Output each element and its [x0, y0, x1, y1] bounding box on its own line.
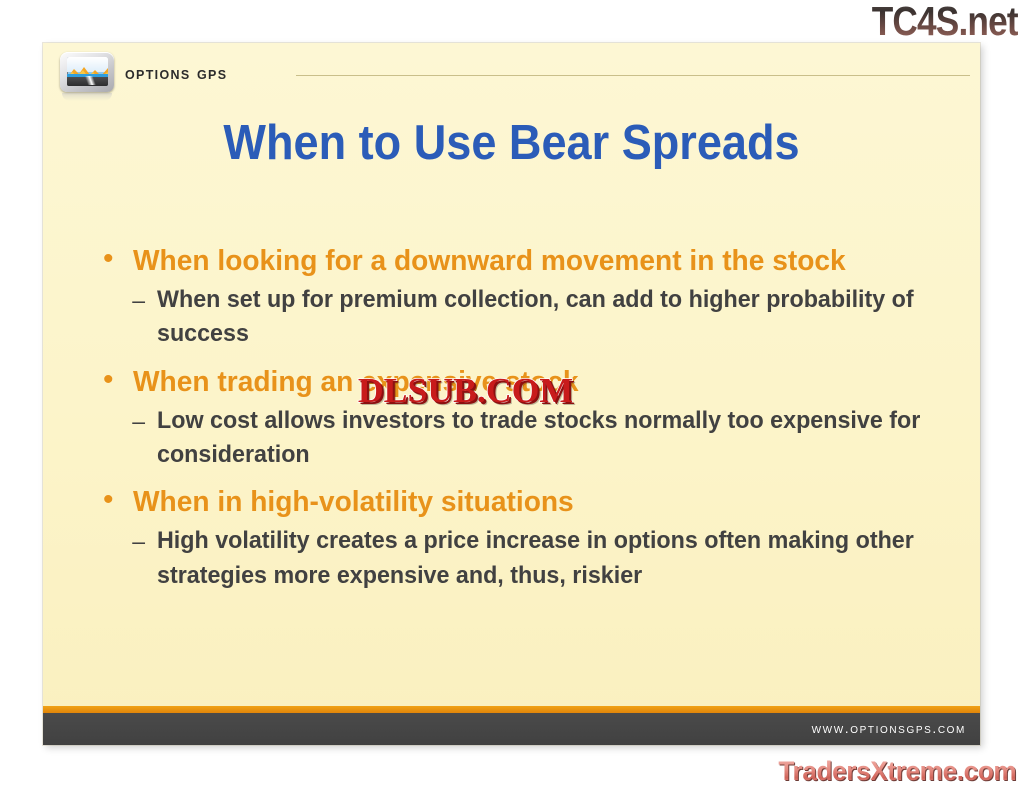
list-item: – When set up for premium collection, ca… — [95, 283, 950, 352]
bullet-dash-icon: – — [95, 283, 157, 317]
sub-bullet-text: When set up for premium collection, can … — [157, 283, 926, 352]
tradersxtreme-watermark: TradersXtreme.com — [778, 756, 1016, 787]
bullet-list: • When looking for a downward movement i… — [95, 241, 950, 597]
header-divider-rule — [296, 75, 970, 76]
page-title: When to Use Bear Spreads — [80, 115, 942, 171]
list-item: – Low cost allows investors to trade sto… — [95, 404, 950, 473]
list-item: • When in high-volatility situations — [95, 482, 950, 522]
bullet-text: When looking for a downward movement in … — [133, 241, 925, 281]
bullet-dot-icon: • — [95, 241, 133, 277]
sub-bullet-text: High volatility creates a price increase… — [157, 524, 926, 593]
bullet-text: When in high-volatility situations — [133, 482, 925, 522]
dlsub-watermark: DLSUB.COM — [358, 371, 573, 411]
gps-icon-screen — [67, 57, 108, 86]
footer-url-label: www.OptionsGPS.com — [812, 720, 966, 736]
options-gps-wordmark: Options GPS — [125, 63, 227, 85]
slide-footer: www.OptionsGPS.com — [43, 713, 980, 745]
slide-header: Options GPS — [43, 43, 980, 99]
tc4s-site-logo: TC4S.net — [872, 0, 1018, 45]
gps-device-icon — [60, 52, 116, 98]
gps-icon-shell — [60, 52, 114, 92]
list-item: – High volatility creates a price increa… — [95, 524, 950, 593]
bullet-dot-icon: • — [95, 362, 133, 398]
gps-icon-road — [67, 77, 108, 86]
bullet-dot-icon: • — [95, 482, 133, 518]
gps-icon-reflection — [62, 93, 112, 101]
footer-accent-bar — [43, 706, 980, 713]
list-item: • When looking for a downward movement i… — [95, 241, 950, 281]
sub-bullet-text: Low cost allows investors to trade stock… — [157, 404, 926, 473]
bullet-dash-icon: – — [95, 404, 157, 438]
bullet-dash-icon: – — [95, 524, 157, 558]
